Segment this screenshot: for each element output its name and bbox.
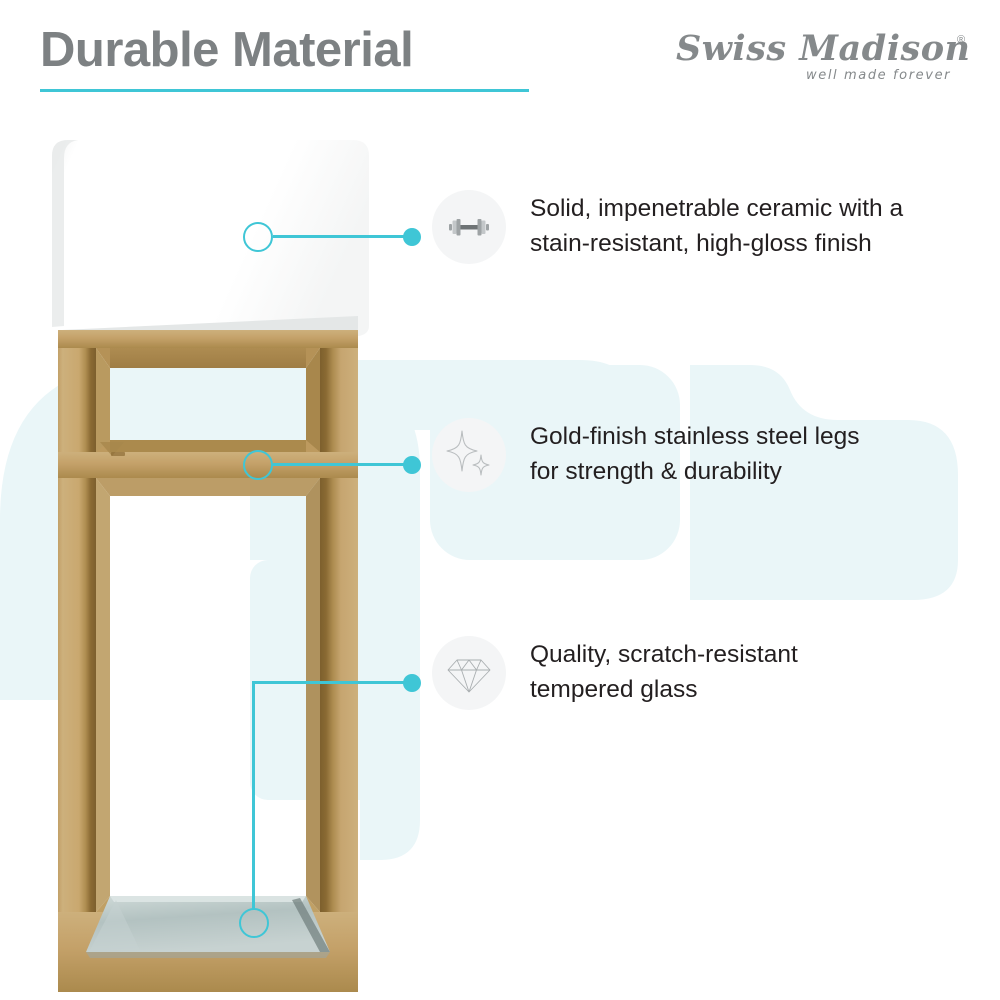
leader-line-glass-horizontal <box>252 681 413 684</box>
dumbbell-icon <box>446 204 492 250</box>
feature-callout-ceramic: Solid, impenetrable ceramic with a stain… <box>432 190 903 264</box>
gold-frame <box>58 330 358 992</box>
brand-name: Swiss Madison <box>676 28 970 69</box>
registered-trademark-icon: ® <box>957 34 965 46</box>
brand-logo: Swiss Madison ® well made forever <box>676 28 976 90</box>
sparkle-icon-circle <box>432 418 506 492</box>
leader-ring-ceramic <box>243 222 273 252</box>
leader-dot-gold-legs <box>403 456 421 474</box>
leader-dot-ceramic <box>403 228 421 246</box>
leader-line-ceramic <box>273 235 413 238</box>
diamond-icon-circle <box>432 636 506 710</box>
ceramic-basin <box>52 140 369 353</box>
feature-text-glass: Quality, scratch-resistant tempered glas… <box>530 638 798 708</box>
leader-ring-glass <box>239 908 269 938</box>
feature-callout-gold-legs: Gold-finish stainless steel legs for str… <box>432 418 860 492</box>
leader-line-gold-legs <box>273 463 413 466</box>
feature-callout-glass: Quality, scratch-resistant tempered glas… <box>432 636 798 710</box>
brand-tagline: well made forever <box>806 68 951 83</box>
product-illustration <box>0 0 440 1000</box>
leader-ring-gold-legs <box>243 450 273 480</box>
feature-text-ceramic: Solid, impenetrable ceramic with a stain… <box>530 192 903 262</box>
leader-line-glass-vertical <box>252 681 255 910</box>
sparkle-icon <box>444 430 494 480</box>
tempered-glass-shelf <box>86 896 330 958</box>
diamond-icon <box>446 651 492 695</box>
infographic-page: Durable Material Swiss Madison ® well ma… <box>0 0 1000 1000</box>
feature-text-gold-legs: Gold-finish stainless steel legs for str… <box>530 420 860 490</box>
dumbbell-icon-circle <box>432 190 506 264</box>
leader-dot-glass <box>403 674 421 692</box>
